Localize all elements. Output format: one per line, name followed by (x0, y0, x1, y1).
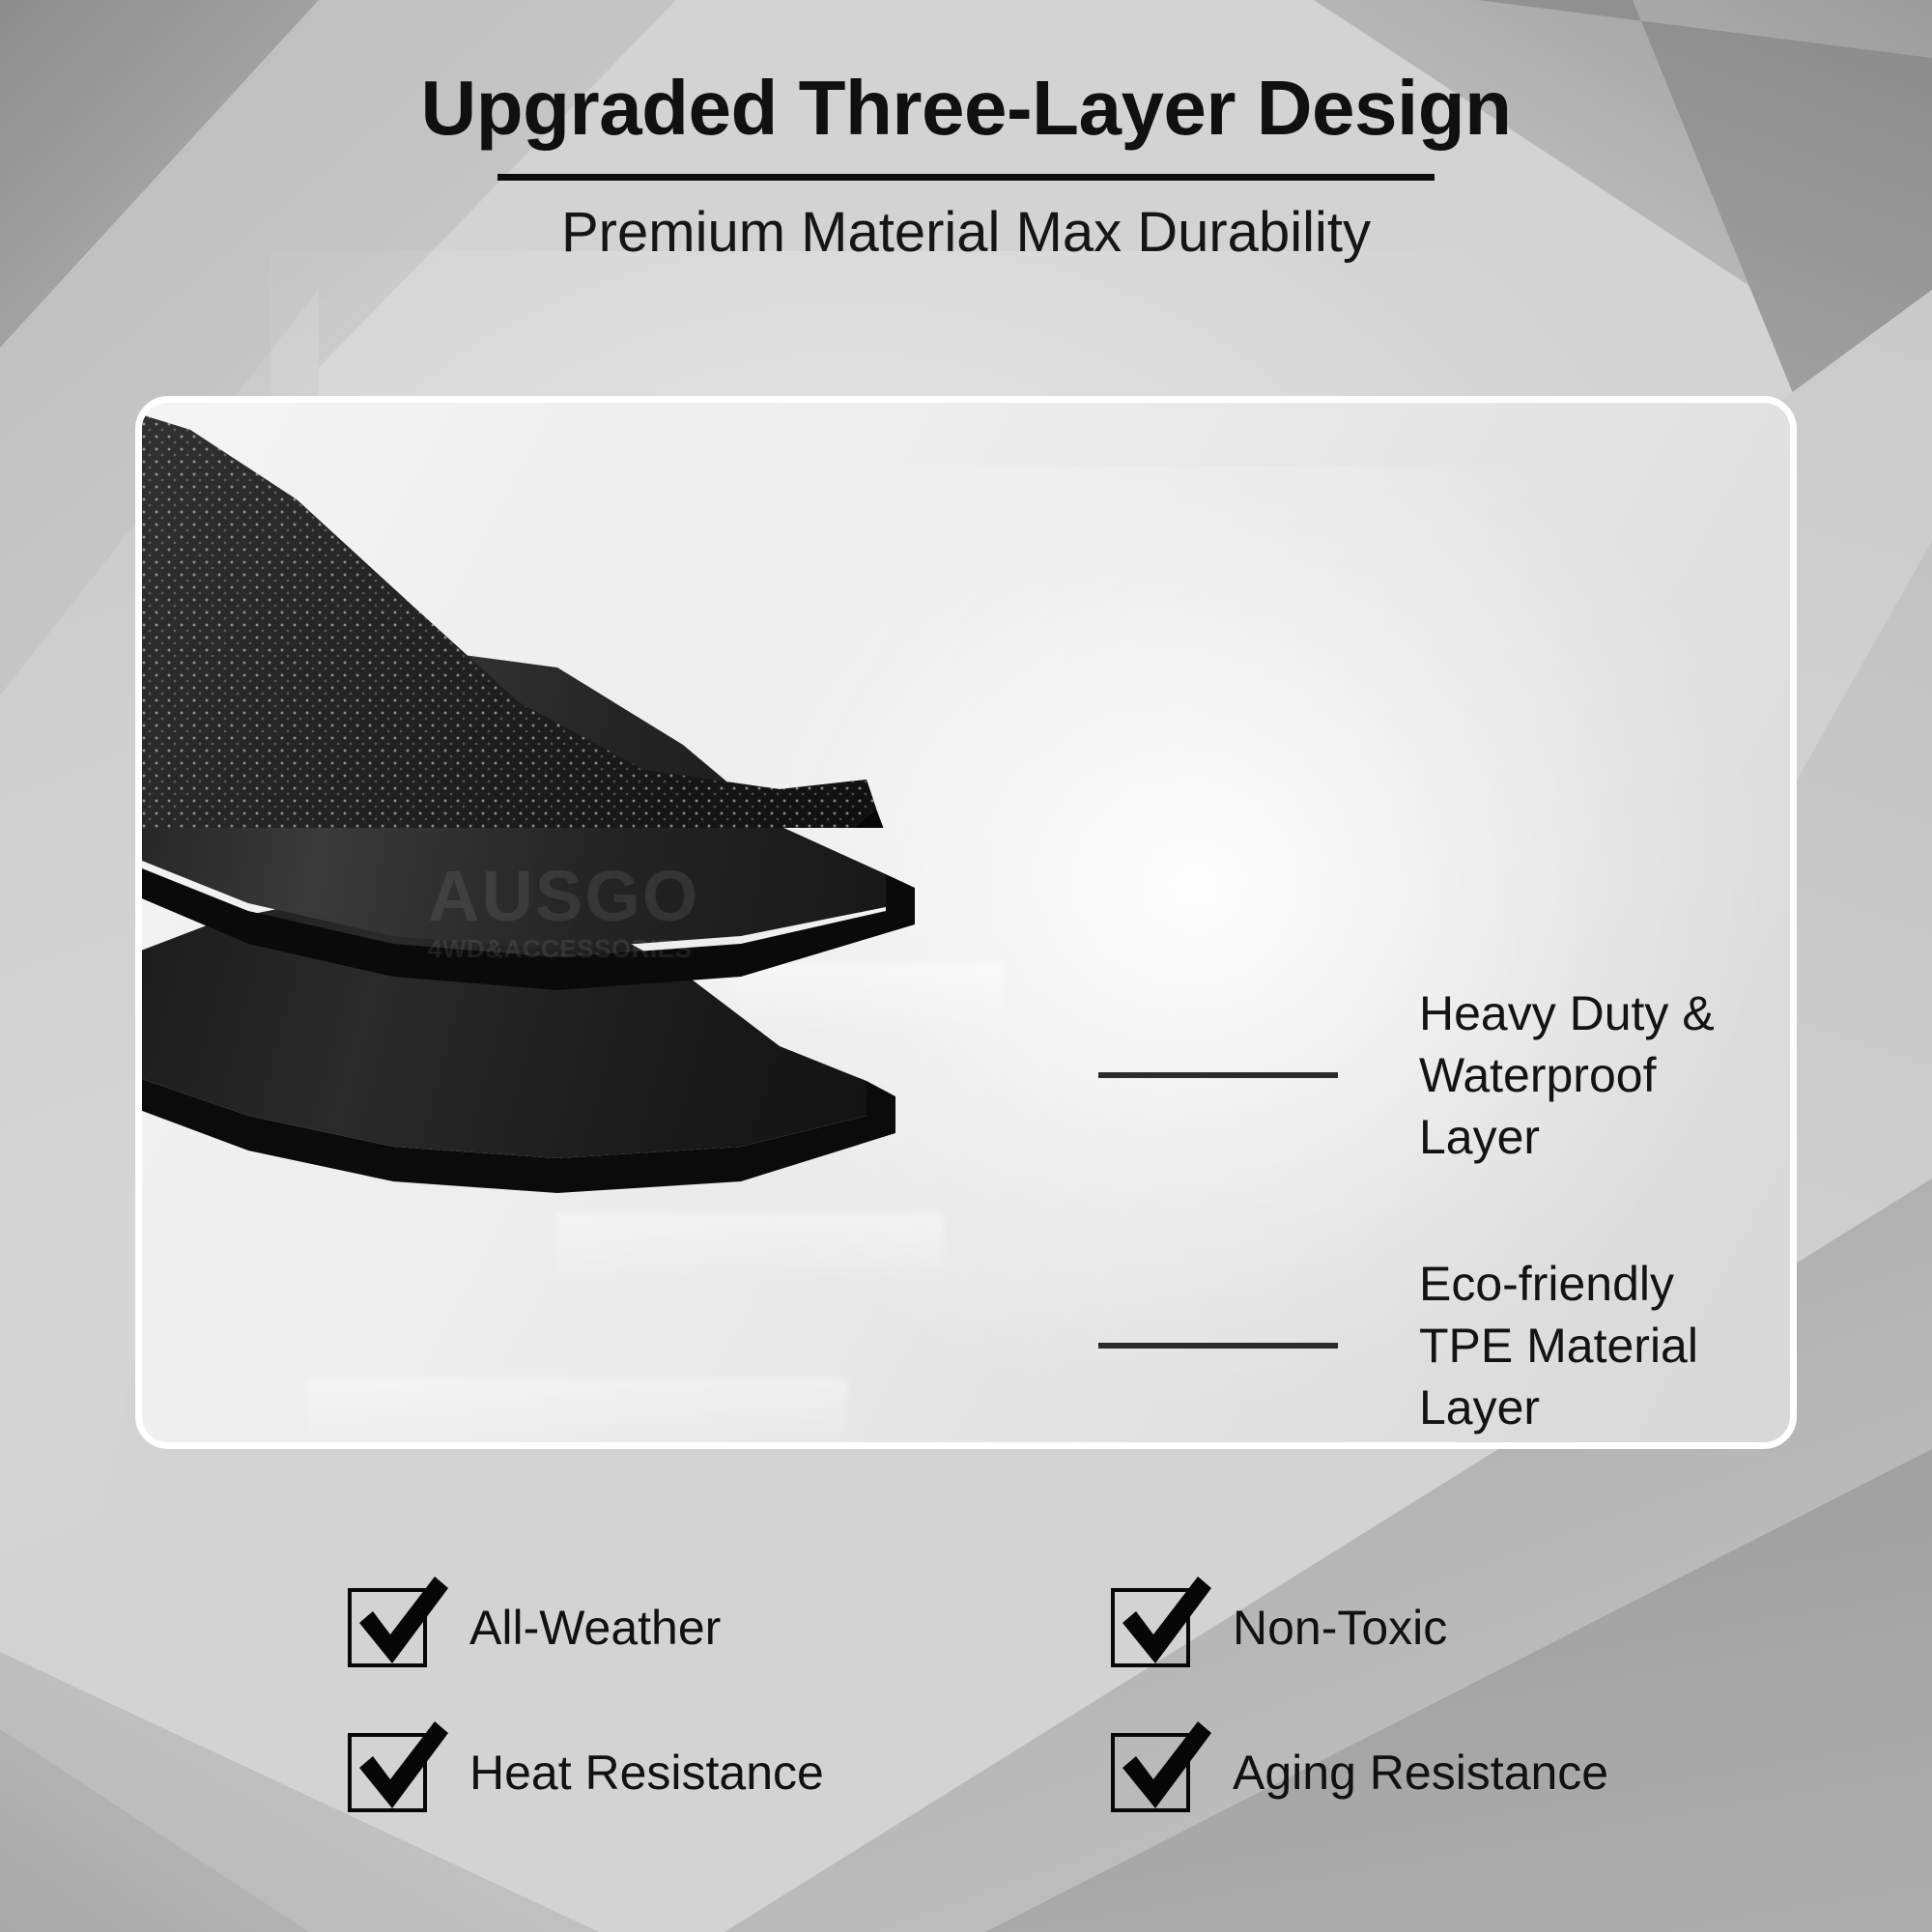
feature-item-all-weather: All-Weather (348, 1555, 1111, 1700)
callout-label: Eco-friendly TPE Material Layer (1419, 1253, 1790, 1438)
page-title: Upgraded Three-Layer Design (0, 68, 1932, 149)
checkbox-checked-icon (348, 1733, 427, 1812)
check-mark-icon (1117, 1575, 1213, 1671)
callout-leader-line (1098, 1072, 1338, 1078)
callout-leader-line (1098, 1343, 1338, 1349)
checkbox-checked-icon (1111, 1733, 1190, 1812)
checkbox-checked-icon (1111, 1588, 1190, 1667)
infographic-page: Upgraded Three-Layer Design Premium Mate… (0, 0, 1932, 1932)
feature-label: All-Weather (469, 1600, 721, 1656)
callout-eco-friendly-tpe-material-layer: Eco-friendly TPE Material Layer (1098, 1253, 1790, 1438)
feature-item-heat-resistance: Heat Resistance (348, 1700, 1111, 1845)
mat-layer-heavy-duty-waterproof (135, 396, 1031, 828)
header: Upgraded Three-Layer Design Premium Mate… (0, 68, 1932, 264)
layer-reflection-bottom (306, 1378, 847, 1446)
feature-label: Heat Resistance (469, 1745, 824, 1801)
mat-layer-heavy-duty-waterproof-surface (135, 396, 1031, 828)
feature-item-aging-resistance: Aging Resistance (1111, 1700, 1700, 1845)
page-subtitle: Premium Material Max Durability (0, 202, 1932, 264)
feature-row-2: Heat Resistance Aging Resistance (348, 1700, 1700, 1845)
feature-label: Non-Toxic (1233, 1600, 1447, 1656)
title-divider (497, 174, 1435, 181)
check-mark-icon (1117, 1719, 1213, 1816)
check-mark-icon (354, 1719, 450, 1816)
callout-label: Heavy Duty & Waterproof Layer (1419, 982, 1790, 1168)
feature-checklist: All-Weather Non-Toxic (348, 1555, 1700, 1845)
feature-label: Aging Resistance (1233, 1745, 1608, 1801)
feature-row-1: All-Weather Non-Toxic (348, 1555, 1700, 1700)
checkbox-checked-icon (348, 1588, 427, 1667)
product-layers-card: AUSGO 4WD&ACCESSORIES Heavy Duty & Water… (135, 396, 1797, 1449)
check-mark-icon (354, 1575, 450, 1671)
callout-heavy-duty-waterproof-layer: Heavy Duty & Waterproof Layer (1098, 982, 1790, 1168)
feature-item-non-toxic: Non-Toxic (1111, 1555, 1700, 1700)
